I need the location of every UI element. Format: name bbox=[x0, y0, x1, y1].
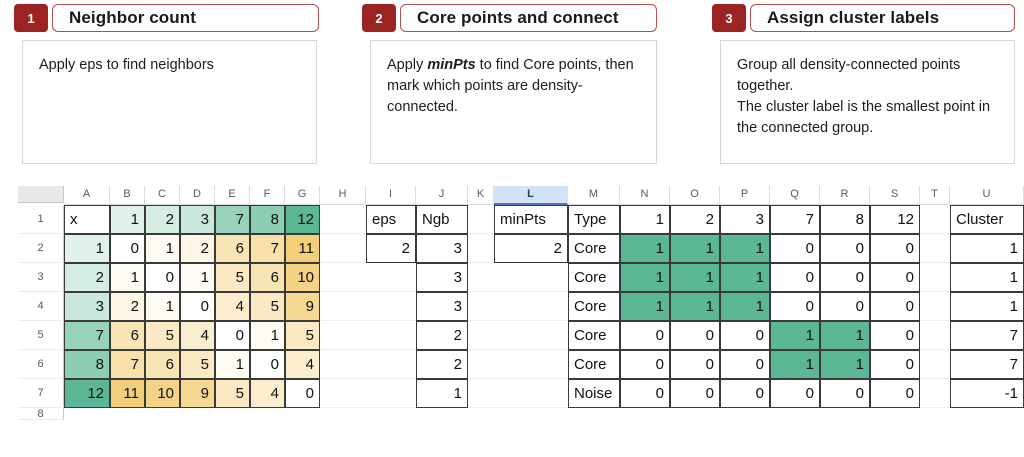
type-value[interactable]: Core bbox=[568, 234, 620, 263]
minpts-header[interactable]: minPts bbox=[494, 205, 568, 234]
distance-row-point-7[interactable]: 7 bbox=[64, 321, 110, 350]
cluster-value[interactable]: 7 bbox=[950, 321, 1024, 350]
connectivity-cell[interactable]: 0 bbox=[620, 379, 670, 408]
step-panel-1: 1 Neighbor count Apply eps to find neigh… bbox=[14, 4, 319, 32]
connectivity-cell[interactable]: 1 bbox=[770, 350, 820, 379]
distance-cell[interactable]: 1 bbox=[145, 292, 180, 321]
ngb-header[interactable]: Ngb bbox=[416, 205, 468, 234]
steps-region: 1 Neighbor count Apply eps to find neigh… bbox=[0, 0, 1024, 170]
cluster-value[interactable]: 1 bbox=[950, 263, 1024, 292]
column-header-n[interactable]: N bbox=[620, 186, 670, 205]
row-header-7[interactable]: 7 bbox=[18, 379, 64, 408]
distance-cell[interactable]: 0 bbox=[215, 321, 250, 350]
column-header-l[interactable]: L bbox=[494, 186, 568, 205]
distance-cell[interactable]: 0 bbox=[250, 350, 285, 379]
connectivity-cell[interactable]: 0 bbox=[670, 321, 720, 350]
connectivity-cell[interactable]: 0 bbox=[820, 234, 870, 263]
distance-row-point-8[interactable]: 8 bbox=[64, 350, 110, 379]
connectivity-cell[interactable]: 0 bbox=[820, 379, 870, 408]
distance-cell[interactable]: 1 bbox=[145, 234, 180, 263]
distance-cell[interactable]: 6 bbox=[250, 263, 285, 292]
distance-cell[interactable]: 10 bbox=[285, 263, 320, 292]
step-2-body-text: Apply minPts to find Core points, then m… bbox=[387, 55, 642, 118]
connectivity-cell[interactable]: 1 bbox=[720, 263, 770, 292]
distance-cell[interactable]: 11 bbox=[110, 379, 145, 408]
distance-cell[interactable]: 10 bbox=[145, 379, 180, 408]
distance-cell[interactable]: 11 bbox=[285, 234, 320, 263]
distance-col-point-8[interactable]: 8 bbox=[250, 205, 285, 234]
distance-col-point-3[interactable]: 3 bbox=[180, 205, 215, 234]
distance-cell[interactable]: 4 bbox=[215, 292, 250, 321]
distance-cell[interactable]: 6 bbox=[145, 350, 180, 379]
step-1-header: 1 Neighbor count bbox=[14, 4, 319, 32]
distance-cell[interactable]: 5 bbox=[215, 379, 250, 408]
column-header-j[interactable]: J bbox=[416, 186, 468, 205]
column-header-o[interactable]: O bbox=[670, 186, 720, 205]
distance-cell[interactable]: 4 bbox=[180, 321, 215, 350]
ngb-value[interactable]: 3 bbox=[416, 263, 468, 292]
step-1-badge: 1 bbox=[14, 4, 48, 32]
connectivity-col-point-1[interactable]: 1 bbox=[620, 205, 670, 234]
ngb-value[interactable]: 2 bbox=[416, 321, 468, 350]
ngb-value[interactable]: 1 bbox=[416, 379, 468, 408]
step-1-body-text: Apply eps to find neighbors bbox=[39, 55, 302, 76]
distance-col-point-12[interactable]: 12 bbox=[285, 205, 320, 234]
distance-cell[interactable]: 9 bbox=[180, 379, 215, 408]
distance-col-point-7[interactable]: 7 bbox=[215, 205, 250, 234]
column-header-row[interactable]: ABCDEFGHIJKLMNOPQRSTU bbox=[18, 186, 1024, 205]
step-1-body-box: Apply eps to find neighbors bbox=[22, 40, 317, 164]
step-2-header: 2 Core points and connect bbox=[362, 4, 657, 32]
step-2-badge: 2 bbox=[362, 4, 396, 32]
distance-cell[interactable]: 5 bbox=[250, 292, 285, 321]
distance-cell[interactable]: 4 bbox=[285, 350, 320, 379]
connectivity-cell[interactable]: 1 bbox=[620, 234, 670, 263]
distance-row-point-2[interactable]: 2 bbox=[64, 263, 110, 292]
column-header-h[interactable]: H bbox=[320, 186, 366, 205]
ngb-value[interactable]: 3 bbox=[416, 292, 468, 321]
step-3-header: 3 Assign cluster labels bbox=[712, 4, 1015, 32]
column-header-p[interactable]: P bbox=[720, 186, 770, 205]
distance-cell[interactable]: 4 bbox=[250, 379, 285, 408]
column-header-s[interactable]: S bbox=[870, 186, 920, 205]
connectivity-cell[interactable]: 1 bbox=[720, 292, 770, 321]
distance-cell[interactable]: 1 bbox=[215, 350, 250, 379]
connectivity-cell[interactable]: 0 bbox=[770, 379, 820, 408]
row-header-3[interactable]: 3 bbox=[18, 263, 64, 292]
step-2-body-box: Apply minPts to find Core points, then m… bbox=[370, 40, 657, 164]
distance-row-point-12[interactable]: 12 bbox=[64, 379, 110, 408]
distance-cell[interactable]: 1 bbox=[110, 263, 145, 292]
connectivity-cell[interactable]: 0 bbox=[620, 321, 670, 350]
column-header-b[interactable]: B bbox=[110, 186, 145, 205]
column-header-r[interactable]: R bbox=[820, 186, 870, 205]
column-header-u[interactable]: U bbox=[950, 186, 1024, 205]
column-header-m[interactable]: M bbox=[568, 186, 620, 205]
distance-cell[interactable]: 0 bbox=[180, 292, 215, 321]
distance-cell[interactable]: 5 bbox=[145, 321, 180, 350]
distance-cell[interactable]: 0 bbox=[110, 234, 145, 263]
distance-cell[interactable]: 0 bbox=[145, 263, 180, 292]
cluster-header[interactable]: Cluster bbox=[950, 205, 1024, 234]
step-3-title: Assign cluster labels bbox=[751, 8, 939, 28]
connectivity-cell[interactable]: 1 bbox=[620, 292, 670, 321]
row-header-1[interactable]: 1 bbox=[18, 205, 64, 234]
distance-cell[interactable]: 0 bbox=[285, 379, 320, 408]
connectivity-cell[interactable]: 0 bbox=[620, 350, 670, 379]
row-header-8[interactable]: 8 bbox=[18, 408, 64, 420]
cluster-value[interactable]: 1 bbox=[950, 234, 1024, 263]
distance-matrix-corner[interactable]: x bbox=[64, 205, 110, 234]
connectivity-col-point-2[interactable]: 2 bbox=[670, 205, 720, 234]
distance-col-point-2[interactable]: 2 bbox=[145, 205, 180, 234]
row-header-4[interactable]: 4 bbox=[18, 292, 64, 321]
column-header-g[interactable]: G bbox=[285, 186, 320, 205]
distance-cell[interactable]: 1 bbox=[180, 263, 215, 292]
connectivity-cell[interactable]: 0 bbox=[770, 292, 820, 321]
connectivity-cell[interactable]: 0 bbox=[870, 350, 920, 379]
connectivity-cell[interactable]: 0 bbox=[770, 263, 820, 292]
connectivity-col-point-3[interactable]: 3 bbox=[720, 205, 770, 234]
column-header-e[interactable]: E bbox=[215, 186, 250, 205]
connectivity-cell[interactable]: 0 bbox=[870, 234, 920, 263]
column-header-q[interactable]: Q bbox=[770, 186, 820, 205]
column-header-a[interactable]: A bbox=[64, 186, 110, 205]
step-panel-3: 3 Assign cluster labels Group all densit… bbox=[712, 4, 1015, 32]
column-header-f[interactable]: F bbox=[250, 186, 285, 205]
connectivity-cell[interactable]: 0 bbox=[770, 234, 820, 263]
step-3-badge: 3 bbox=[712, 4, 746, 32]
connectivity-cell[interactable]: 1 bbox=[670, 292, 720, 321]
cluster-value[interactable]: -1 bbox=[950, 379, 1024, 408]
ngb-value[interactable]: 2 bbox=[416, 350, 468, 379]
distance-cell[interactable]: 1 bbox=[250, 321, 285, 350]
spreadsheet[interactable]: ABCDEFGHIJKLMNOPQRSTU 12345678 x12378121… bbox=[18, 186, 1024, 451]
step-3-title-box: Assign cluster labels bbox=[750, 4, 1015, 32]
distance-col-point-1[interactable]: 1 bbox=[110, 205, 145, 234]
distance-row-point-1[interactable]: 1 bbox=[64, 234, 110, 263]
type-value[interactable]: Core bbox=[568, 321, 620, 350]
connectivity-cell[interactable]: 1 bbox=[770, 321, 820, 350]
distance-cell[interactable]: 5 bbox=[285, 321, 320, 350]
cluster-value[interactable]: 7 bbox=[950, 350, 1024, 379]
eps-value[interactable]: 2 bbox=[366, 234, 416, 263]
connectivity-col-point-7[interactable]: 7 bbox=[770, 205, 820, 234]
row-header-6[interactable]: 6 bbox=[18, 350, 64, 379]
ngb-value[interactable]: 3 bbox=[416, 234, 468, 263]
connectivity-cell[interactable]: 1 bbox=[670, 263, 720, 292]
step-2-title-box: Core points and connect bbox=[400, 4, 657, 32]
distance-cell[interactable]: 5 bbox=[180, 350, 215, 379]
row-header-5[interactable]: 5 bbox=[18, 321, 64, 350]
distance-cell[interactable]: 2 bbox=[180, 234, 215, 263]
connectivity-cell[interactable]: 0 bbox=[870, 292, 920, 321]
step-panel-2: 2 Core points and connect Apply minPts t… bbox=[362, 4, 657, 32]
distance-cell[interactable]: 7 bbox=[110, 350, 145, 379]
distance-cell[interactable]: 5 bbox=[215, 263, 250, 292]
connectivity-cell[interactable]: 0 bbox=[820, 292, 870, 321]
column-header-d[interactable]: D bbox=[180, 186, 215, 205]
connectivity-cell[interactable]: 0 bbox=[870, 263, 920, 292]
connectivity-cell[interactable]: 0 bbox=[670, 379, 720, 408]
type-value[interactable]: Noise bbox=[568, 379, 620, 408]
row-header-2[interactable]: 2 bbox=[18, 234, 64, 263]
step-3-body-text: Group all density-connected points toget… bbox=[737, 55, 1000, 139]
eps-header[interactable]: eps bbox=[366, 205, 416, 234]
column-header-t[interactable]: T bbox=[920, 186, 950, 205]
distance-cell[interactable]: 7 bbox=[250, 234, 285, 263]
connectivity-cell[interactable]: 0 bbox=[720, 350, 770, 379]
minpts-value[interactable]: 2 bbox=[494, 234, 568, 263]
step-1-title: Neighbor count bbox=[53, 8, 196, 28]
type-value[interactable]: Core bbox=[568, 292, 620, 321]
column-header-i[interactable]: I bbox=[366, 186, 416, 205]
column-header-k[interactable]: K bbox=[468, 186, 494, 205]
connectivity-cell[interactable]: 1 bbox=[670, 234, 720, 263]
column-header-c[interactable]: C bbox=[145, 186, 180, 205]
distance-cell[interactable]: 6 bbox=[110, 321, 145, 350]
step-3-body-box: Group all density-connected points toget… bbox=[720, 40, 1015, 164]
distance-cell[interactable]: 2 bbox=[110, 292, 145, 321]
connectivity-cell[interactable]: 1 bbox=[620, 263, 670, 292]
connectivity-cell[interactable]: 0 bbox=[870, 321, 920, 350]
connectivity-col-point-12[interactable]: 12 bbox=[870, 205, 920, 234]
step-1-title-box: Neighbor count bbox=[52, 4, 319, 32]
connectivity-cell[interactable]: 0 bbox=[870, 379, 920, 408]
slide-root: 1 Neighbor count Apply eps to find neigh… bbox=[0, 0, 1024, 457]
connectivity-col-point-8[interactable]: 8 bbox=[820, 205, 870, 234]
type-value[interactable]: Core bbox=[568, 350, 620, 379]
cluster-value[interactable]: 1 bbox=[950, 292, 1024, 321]
connectivity-cell[interactable]: 1 bbox=[820, 321, 870, 350]
connectivity-cell[interactable]: 0 bbox=[720, 379, 770, 408]
type-header[interactable]: Type bbox=[568, 205, 620, 234]
distance-cell[interactable]: 6 bbox=[215, 234, 250, 263]
distance-cell[interactable]: 9 bbox=[285, 292, 320, 321]
connectivity-cell[interactable]: 0 bbox=[720, 321, 770, 350]
connectivity-cell[interactable]: 0 bbox=[820, 263, 870, 292]
connectivity-cell[interactable]: 1 bbox=[820, 350, 870, 379]
step-2-title: Core points and connect bbox=[401, 8, 619, 28]
connectivity-cell[interactable]: 1 bbox=[720, 234, 770, 263]
connectivity-cell[interactable]: 0 bbox=[670, 350, 720, 379]
distance-row-point-3[interactable]: 3 bbox=[64, 292, 110, 321]
type-value[interactable]: Core bbox=[568, 263, 620, 292]
